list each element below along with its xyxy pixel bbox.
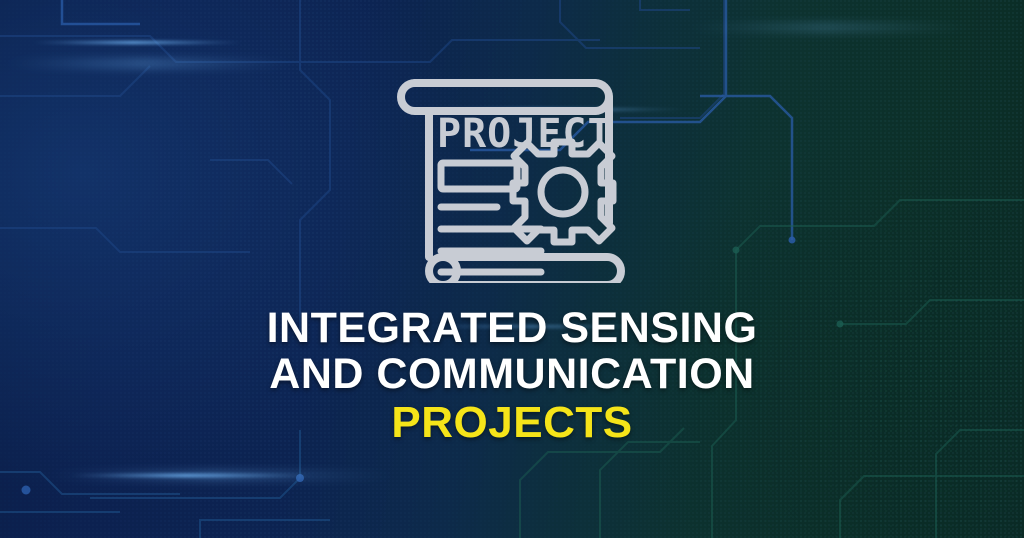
banner-root: PROJECT INTEGRATED SENSING: [0, 0, 1024, 538]
headline-line-1: INTEGRATED SENSING: [267, 306, 758, 352]
headline-line-2: AND COMMUNICATION: [267, 352, 758, 398]
scroll-document-icon: PROJECT: [389, 61, 635, 283]
scroll-top-roll: [401, 83, 595, 111]
banner-content: PROJECT INTEGRATED SENSING: [0, 0, 1024, 538]
project-scroll-gear-icon: PROJECT: [380, 56, 644, 288]
scroll-field-box: [441, 163, 517, 189]
headline-accent: PROJECTS: [267, 400, 758, 447]
headline-block: INTEGRATED SENSING AND COMMUNICATION PRO…: [267, 306, 758, 447]
